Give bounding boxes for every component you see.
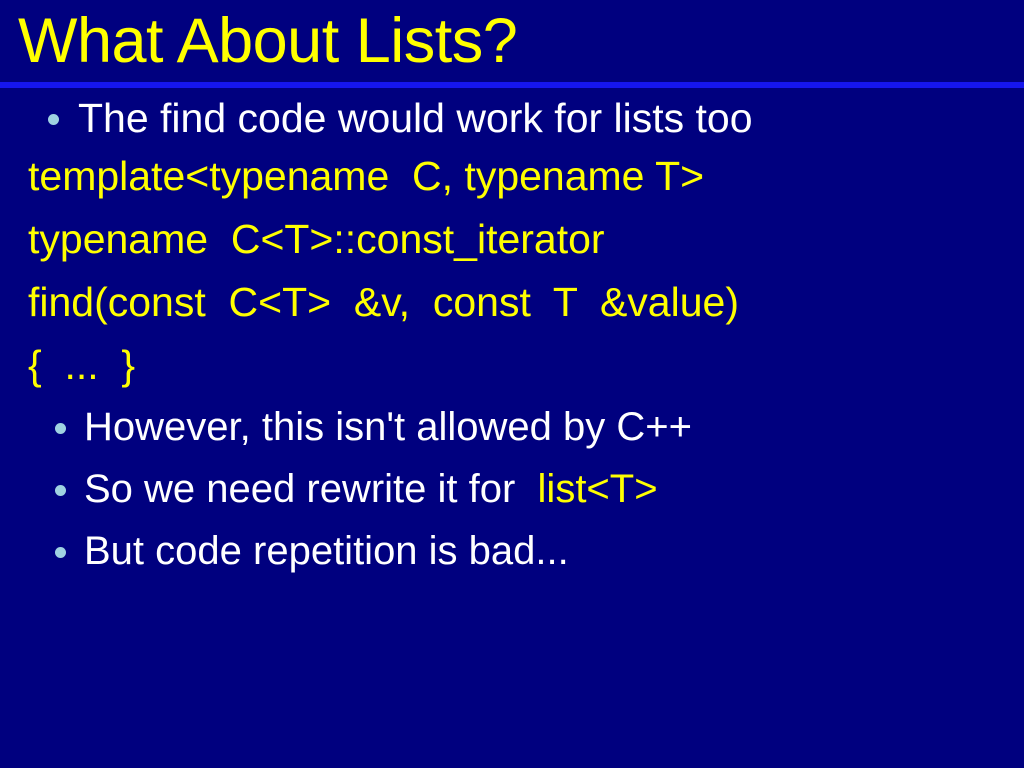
code-line-3: find(const C<T> &v, const T &value) <box>28 272 739 332</box>
code-line-row: typename C<T>::const_iterator <box>0 209 1024 272</box>
code-line-1: template<typename C, typename T> <box>28 146 704 206</box>
slide-title-area: What About Lists? <box>0 0 1024 88</box>
list-item: However, this isn't allowed by C++ <box>0 397 1024 459</box>
page-title: What About Lists? <box>18 0 517 84</box>
code-line-row: template<typename C, typename T> <box>0 146 1024 209</box>
slide-body: The find code would work for lists too t… <box>0 88 1024 768</box>
code-line-row: find(const C<T> &v, const T &value) <box>0 272 1024 335</box>
bullet-marker-icon <box>55 423 66 434</box>
bullet-text-plain: But code repetition is bad... <box>84 529 569 573</box>
bullet-text: So we need rewrite it for list<T> <box>84 459 658 519</box>
bullet-text: But code repetition is bad... <box>84 521 569 581</box>
list-item: But code repetition is bad... <box>0 521 1024 583</box>
code-line-4: { ... } <box>28 335 135 395</box>
bullet-marker-icon <box>55 547 66 558</box>
bullet-text-plain: So we need rewrite it for <box>84 467 538 511</box>
bullet-marker-icon <box>48 114 59 125</box>
slide: What About Lists? The find code would wo… <box>0 0 1024 768</box>
bullet-text: However, this isn't allowed by C++ <box>84 397 692 457</box>
bullet-text-plain: However, this isn't allowed by C++ <box>84 405 692 449</box>
code-line-2: typename C<T>::const_iterator <box>28 209 605 269</box>
code-line-row: { ... } <box>0 335 1024 397</box>
bullet-marker-icon <box>55 485 66 496</box>
list-item: The find code would work for lists too <box>0 88 1024 146</box>
list-item: So we need rewrite it for list<T> <box>0 459 1024 521</box>
bullet-text: The find code would work for lists too <box>78 88 753 148</box>
bullet-code-span: list<T> <box>538 467 658 511</box>
